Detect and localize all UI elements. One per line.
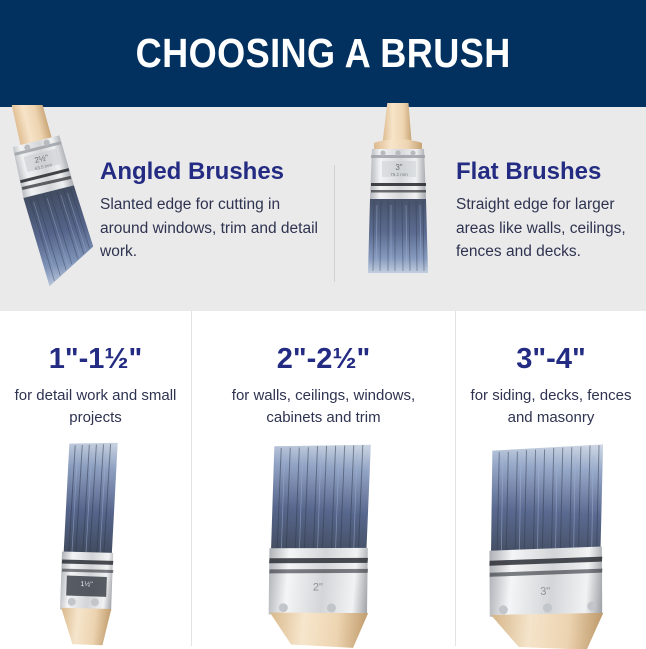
infographic-page: CHOOSING A BRUSH	[0, 0, 646, 646]
brush-types-section: 2½" 63.5 mm	[0, 107, 646, 311]
angled-brush-description: Slanted edge for cutting in around windo…	[100, 193, 325, 264]
header-banner: CHOOSING A BRUSH	[0, 0, 646, 107]
size-option-small: 1"-1½" for detail work and small project…	[0, 311, 191, 646]
angled-brush-text: Angled Brushes Slanted edge for cutting …	[100, 159, 325, 264]
size-option-medium: 2"-2½" for walls, ceilings, windows, cab…	[192, 311, 455, 646]
medium-brush-image: 2"	[234, 439, 414, 649]
svg-text:1½": 1½"	[80, 580, 93, 588]
page-title: CHOOSING A BRUSH	[135, 30, 510, 77]
size-label-small: 1"-1½"	[0, 344, 191, 376]
brush-sizes-section: 1"-1½" for detail work and small project…	[0, 311, 646, 646]
size-use-large: for siding, decks, fences and masonry	[464, 385, 639, 430]
svg-text:76.2 mm: 76.2 mm	[390, 172, 408, 177]
angled-brush-heading: Angled Brushes	[100, 159, 325, 185]
flat-brush-heading: Flat Brushes	[456, 159, 646, 185]
flat-brush-image: 3" 76.2 mm	[350, 103, 460, 303]
brush-type-angled: 2½" 63.5 mm	[0, 107, 334, 311]
flat-brush-description: Straight edge for larger areas like wall…	[456, 193, 646, 264]
size-label-medium: 2"-2½"	[192, 344, 455, 376]
svg-text:2": 2"	[312, 582, 322, 594]
size-use-small: for detail work and small projects	[8, 385, 184, 430]
small-brush-image: 1½"	[21, 439, 171, 649]
size-use-medium: for walls, ceilings, windows, cabinets a…	[203, 385, 445, 430]
svg-text:3": 3"	[540, 586, 551, 598]
brush-type-flat: 3" 76.2 mm	[334, 107, 646, 311]
size-option-large: 3"-4" for siding, decks, fences and maso…	[456, 311, 646, 646]
large-brush-image: 3"	[456, 439, 646, 649]
svg-text:3": 3"	[395, 163, 402, 172]
flat-brush-text: Flat Brushes Straight edge for larger ar…	[456, 159, 646, 264]
size-label-large: 3"-4"	[456, 344, 646, 376]
angled-brush-image: 2½" 63.5 mm	[0, 105, 108, 305]
